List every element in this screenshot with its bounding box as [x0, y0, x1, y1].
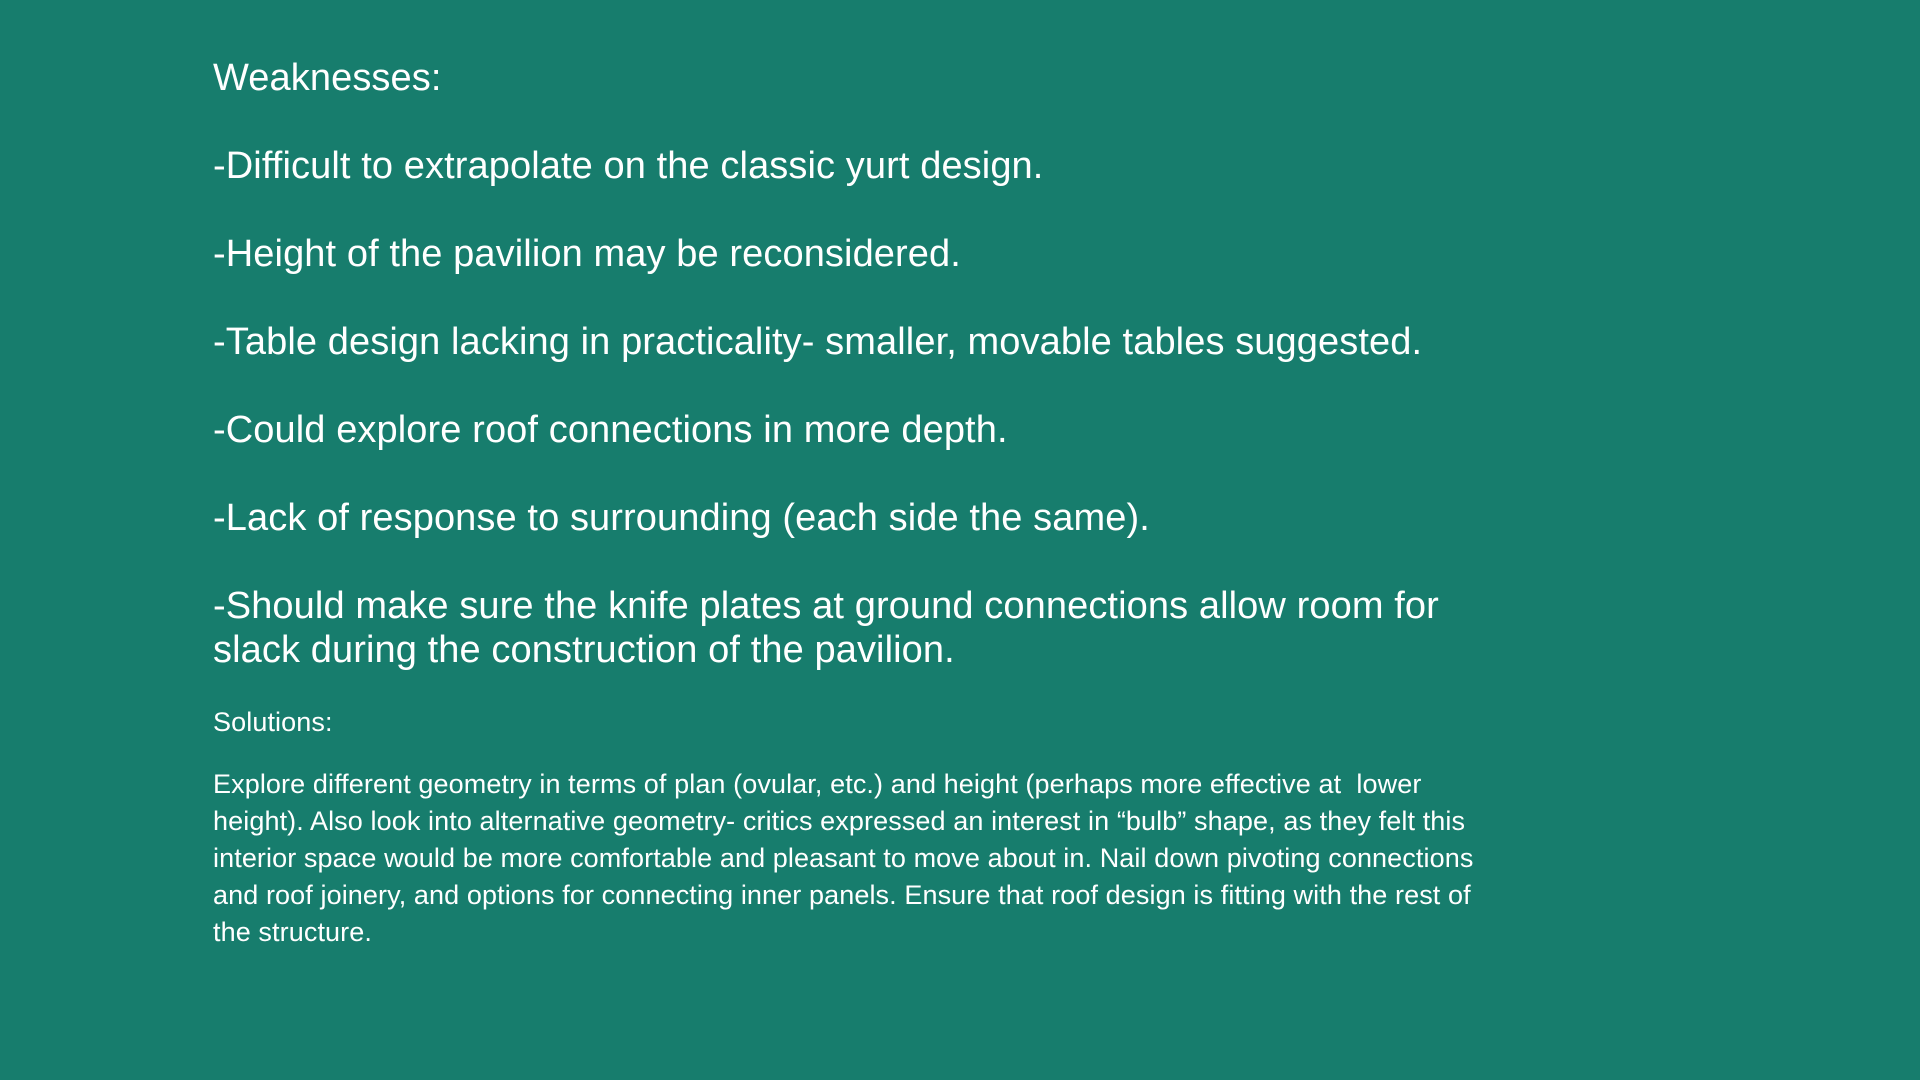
weakness-bullet-1: -Difficult to extrapolate on the classic… [213, 144, 1533, 188]
weakness-bullet-4: -Could explore roof connections in more … [213, 408, 1533, 452]
weakness-bullet-3: -Table design lacking in practicality- s… [213, 320, 1533, 364]
weakness-bullet-5: -Lack of response to surrounding (each s… [213, 496, 1533, 540]
slide-canvas: Weaknesses: -Difficult to extrapolate on… [0, 0, 1920, 1080]
weakness-bullet-2: -Height of the pavilion may be reconside… [213, 232, 1533, 276]
weaknesses-heading: Weaknesses: [213, 56, 1693, 100]
solutions-heading: Solutions: [213, 706, 1693, 738]
solutions-body: Explore different geometry in terms of p… [213, 766, 1483, 951]
weakness-bullet-6: -Should make sure the knife plates at gr… [213, 584, 1533, 672]
slide-content: Weaknesses: -Difficult to extrapolate on… [213, 56, 1693, 951]
